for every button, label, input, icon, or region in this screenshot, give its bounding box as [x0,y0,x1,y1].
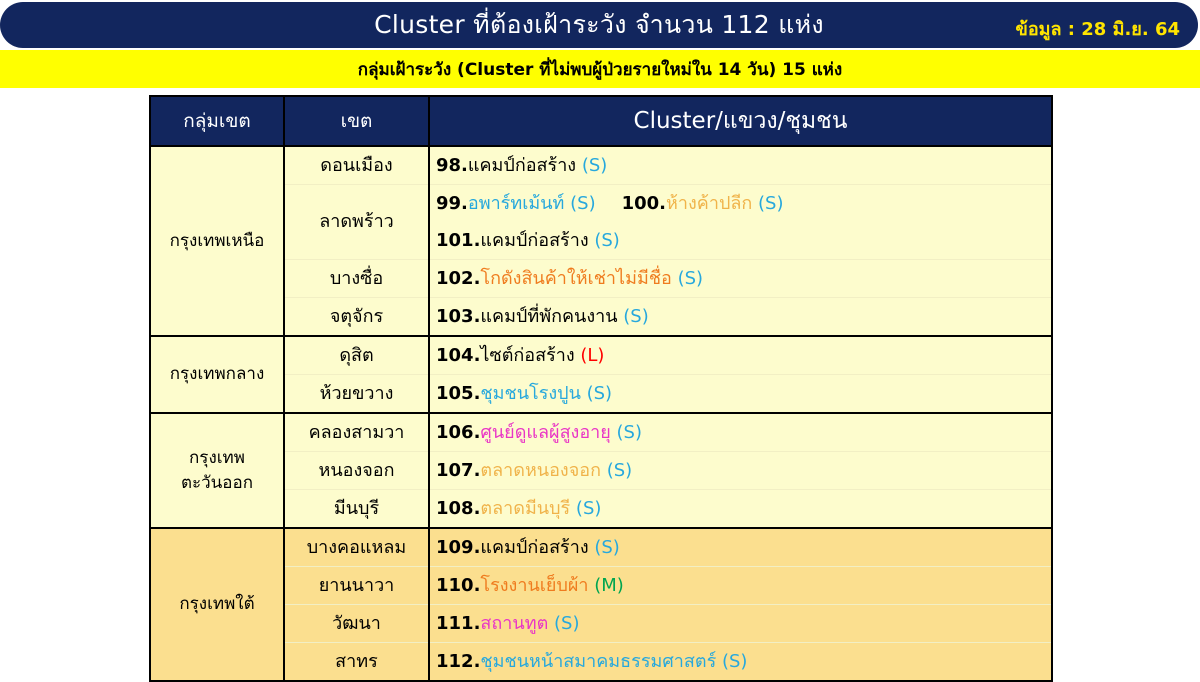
table-row: หนองจอก107.ตลาดหนองจอก (S) [150,452,1052,490]
table-row: กรุงเทพกลางดุสิต104.ไซต์ก่อสร้าง (L) [150,336,1052,375]
table-row: ห้วยขวาง105.ชุมชนโรงปูน (S) [150,375,1052,414]
district-cell: ยานนาวา [284,567,429,605]
cluster-entry-size: (S) [716,651,747,672]
cluster-entry-name: โรงงานเย็บผ้า [480,575,588,596]
cluster-entry-size: (L) [575,345,605,366]
cluster-cell: 106.ศูนย์ดูแลผู้สูงอายุ (S) [429,413,1052,452]
cluster-entry: 112.ชุมชนหน้าสมาคมธรรมศาสตร์ (S) [436,651,747,672]
cluster-cell: 112.ชุมชนหน้าสมาคมธรรมศาสตร์ (S) [429,643,1052,682]
table-row: กรุงเทพเหนือดอนเมือง98.แคมป์ก่อสร้าง (S) [150,146,1052,185]
cluster-entry-name: โกดังสินค้าให้เช่าไม่มีชื่อ [480,268,671,289]
table-row: กรุงเทพตะวันออกคลองสามวา106.ศูนย์ดูแลผู้… [150,413,1052,452]
cluster-entry-number: 99. [436,193,468,214]
column-header-district: เขต [284,96,429,146]
cluster-entry: 99.อพาร์ทเม้นท์ (S) [436,193,596,214]
cluster-entry-name: แคมป์ก่อสร้าง [468,155,576,176]
cluster-entry-name: แคมป์ก่อสร้าง [480,537,588,558]
table-row: ลาดพร้าว99.อพาร์ทเม้นท์ (S)100.ห้างค้าปล… [150,185,1052,223]
cluster-entry: 98.แคมป์ก่อสร้าง (S) [436,155,607,176]
cluster-entry-size: (S) [589,537,620,558]
district-cell: บางซื่อ [284,260,429,298]
cluster-cell: 101.แคมป์ก่อสร้าง (S) [429,222,1052,260]
cluster-entry-size: (S) [611,422,642,443]
cluster-cell: 103.แคมป์ที่พักคนงาน (S) [429,298,1052,337]
cluster-entry-name: ชุมชนโรงปูน [480,383,580,404]
group-label-line: กรุงเทพ [157,446,277,471]
table-row: จตุจักร103.แคมป์ที่พักคนงาน (S) [150,298,1052,337]
cluster-entry-size: (S) [570,498,601,519]
cluster-entry-number: 98. [436,155,468,176]
cluster-entry: 106.ศูนย์ดูแลผู้สูงอายุ (S) [436,422,642,443]
table-row: วัฒนา111.สถานทูต (S) [150,605,1052,643]
cluster-entry-number: 100. [622,193,666,214]
table-row: บางซื่อ102.โกดังสินค้าให้เช่าไม่มีชื่อ (… [150,260,1052,298]
cluster-entry-name: อพาร์ทเม้นท์ [468,193,565,214]
cluster-entry-number: 106. [436,422,480,443]
cluster-entry-size: (S) [548,613,579,634]
district-cell: หนองจอก [284,452,429,490]
table-row: มีนบุรี108.ตลาดมีนบุรี (S) [150,490,1052,529]
cluster-entry: 100.ห้างค้าปลีก (S) [622,193,784,214]
table-row: ยานนาวา110.โรงงานเย็บผ้า (M) [150,567,1052,605]
cluster-entry: 102.โกดังสินค้าให้เช่าไม่มีชื่อ (S) [436,268,703,289]
cluster-cell: 111.สถานทูต (S) [429,605,1052,643]
table-row: กรุงเทพใต้บางคอแหลม109.แคมป์ก่อสร้าง (S) [150,528,1052,567]
cluster-entry-number: 107. [436,460,480,481]
cluster-entry-name: สถานทูต [480,613,548,634]
cluster-entry-name: ชุมชนหน้าสมาคมธรรมศาสตร์ [480,651,716,672]
cluster-entry-name: ตลาดมีนบุรี [480,498,570,519]
cluster-cell: 99.อพาร์ทเม้นท์ (S)100.ห้างค้าปลีก (S) [429,185,1052,223]
district-cell: จตุจักร [284,298,429,337]
cluster-entry-size: (S) [564,193,595,214]
cluster-cell: 110.โรงงานเย็บผ้า (M) [429,567,1052,605]
cluster-entry-number: 102. [436,268,480,289]
cluster-entry-name: ไซต์ก่อสร้าง [480,345,574,366]
cluster-entry: 101.แคมป์ก่อสร้าง (S) [436,230,620,251]
cluster-entry-number: 109. [436,537,480,558]
cluster-entry-name: ห้างค้าปลีก [666,193,752,214]
cluster-entry-number: 108. [436,498,480,519]
subtitle-text: กลุ่มเฝ้าระวัง (Cluster ที่ไม่พบผู้ป่วยร… [358,56,842,83]
group-cell: กรุงเทพตะวันออก [150,413,284,528]
district-cell: ลาดพร้าว [284,185,429,260]
cluster-entry-number: 111. [436,613,480,634]
cluster-entry: 110.โรงงานเย็บผ้า (M) [436,575,624,596]
cluster-entry-size: (S) [576,155,607,176]
cluster-entry-size: (M) [589,575,624,596]
cluster-entry-number: 103. [436,306,480,327]
cluster-entry-size: (S) [581,383,612,404]
cluster-entry-size: (S) [601,460,632,481]
cluster-cell: 107.ตลาดหนองจอก (S) [429,452,1052,490]
cluster-entry: 107.ตลาดหนองจอก (S) [436,460,632,481]
cluster-table: กลุ่มเขต เขต Cluster/แขวง/ชุมชน กรุงเทพเ… [149,95,1053,682]
table-row: สาทร112.ชุมชนหน้าสมาคมธรรมศาสตร์ (S) [150,643,1052,682]
cluster-entry-number: 112. [436,651,480,672]
cluster-cell: 108.ตลาดมีนบุรี (S) [429,490,1052,529]
cluster-entry: 111.สถานทูต (S) [436,613,579,634]
cluster-entry: 109.แคมป์ก่อสร้าง (S) [436,537,620,558]
group-cell: กรุงเทพกลาง [150,336,284,413]
group-cell: กรุงเทพเหนือ [150,146,284,336]
cluster-entry-size: (S) [752,193,783,214]
cluster-cell: 109.แคมป์ก่อสร้าง (S) [429,528,1052,567]
cluster-cell: 105.ชุมชนโรงปูน (S) [429,375,1052,414]
table-header: กลุ่มเขต เขต Cluster/แขวง/ชุมชน [150,96,1052,146]
cluster-entry-name: แคมป์ก่อสร้าง [480,230,588,251]
cluster-entry-number: 105. [436,383,480,404]
cluster-cell: 98.แคมป์ก่อสร้าง (S) [429,146,1052,185]
cluster-cell: 104.ไซต์ก่อสร้าง (L) [429,336,1052,375]
district-cell: ดุสิต [284,336,429,375]
group-cell: กรุงเทพใต้ [150,528,284,681]
district-cell: บางคอแหลม [284,528,429,567]
data-date-badge: ข้อมูล : 28 มิ.ย. 64 [1016,18,1180,42]
table-body: กรุงเทพเหนือดอนเมือง98.แคมป์ก่อสร้าง (S)… [150,146,1052,681]
district-cell: สาทร [284,643,429,682]
group-label-line: ตะวันออก [157,471,277,496]
cluster-entry-number: 110. [436,575,480,596]
column-header-cluster: Cluster/แขวง/ชุมชน [429,96,1052,146]
subtitle-banner: กลุ่มเฝ้าระวัง (Cluster ที่ไม่พบผู้ป่วยร… [0,50,1200,88]
cluster-entry-number: 101. [436,230,480,251]
cluster-cell: 102.โกดังสินค้าให้เช่าไม่มีชื่อ (S) [429,260,1052,298]
cluster-entry: 108.ตลาดมีนบุรี (S) [436,498,601,519]
district-cell: วัฒนา [284,605,429,643]
cluster-entry-size: (S) [618,306,649,327]
district-cell: ดอนเมือง [284,146,429,185]
cluster-entry: 104.ไซต์ก่อสร้าง (L) [436,345,604,366]
district-cell: ห้วยขวาง [284,375,429,414]
title-bar: Cluster ที่ต้องเฝ้าระวัง จำนวน 112 แห่ง … [0,2,1198,48]
cluster-entry-size: (S) [672,268,703,289]
district-cell: คลองสามวา [284,413,429,452]
cluster-entry-number: 104. [436,345,480,366]
cluster-entry-name: ตลาดหนองจอก [480,460,601,481]
cluster-entry: 105.ชุมชนโรงปูน (S) [436,383,612,404]
cluster-entry-name: ศูนย์ดูแลผู้สูงอายุ [480,422,610,443]
cluster-entry-name: แคมป์ที่พักคนงาน [480,306,617,327]
cluster-entry: 103.แคมป์ที่พักคนงาน (S) [436,306,649,327]
column-header-group: กลุ่มเขต [150,96,284,146]
table-header-row: กลุ่มเขต เขต Cluster/แขวง/ชุมชน [150,96,1052,146]
cluster-entry-size: (S) [589,230,620,251]
district-cell: มีนบุรี [284,490,429,529]
